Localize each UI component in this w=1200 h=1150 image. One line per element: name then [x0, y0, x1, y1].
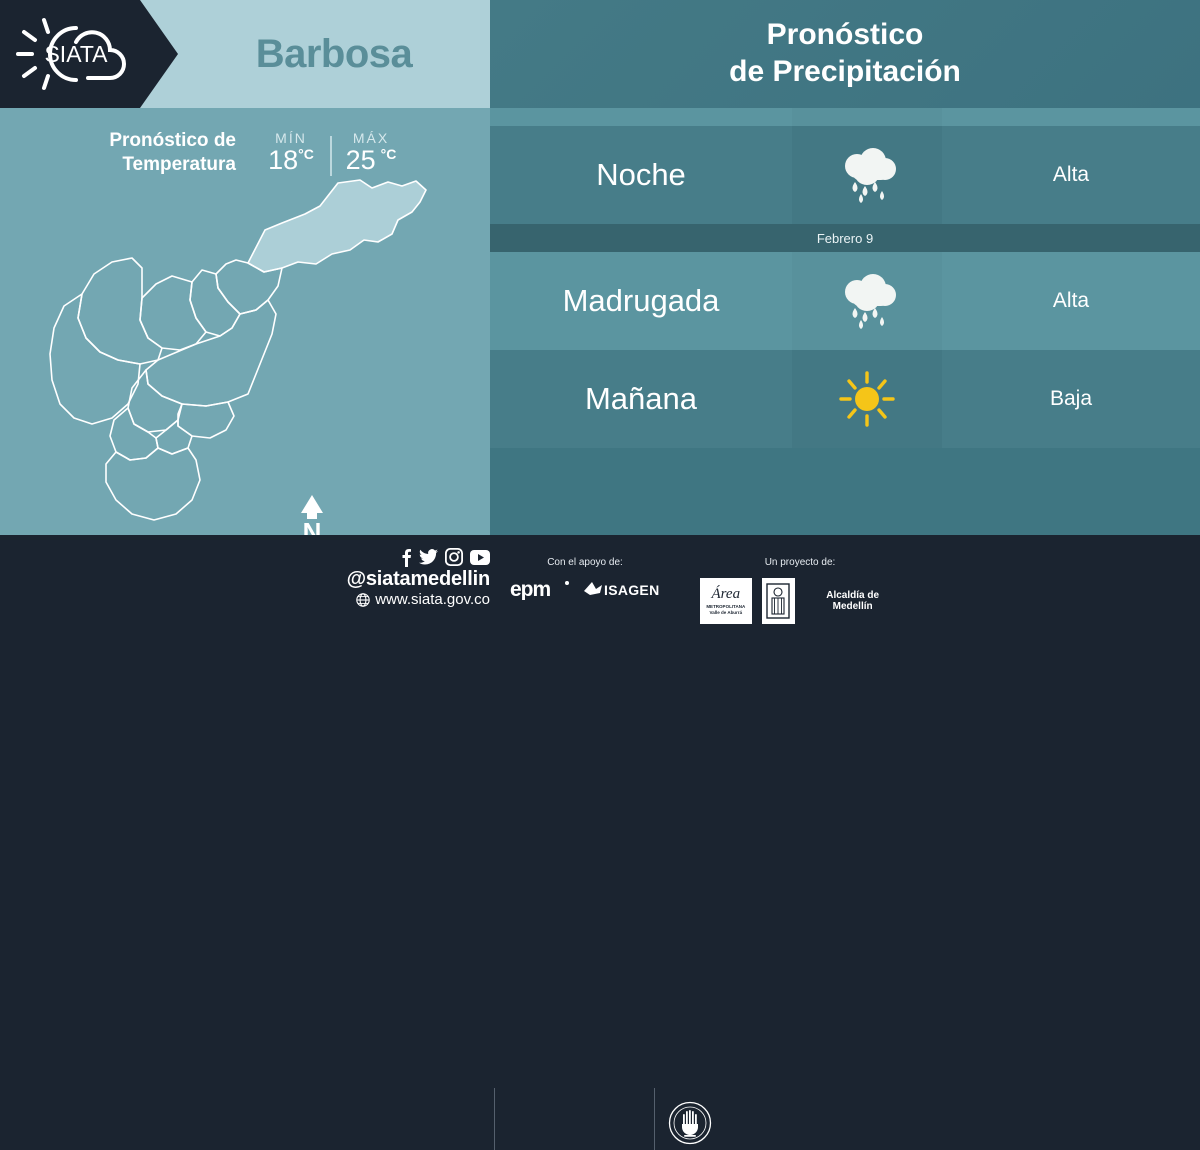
- siata-logo-icon: SIATA: [14, 12, 138, 96]
- website-line[interactable]: www.siata.gov.co: [310, 591, 490, 608]
- map-region-caldas: [106, 448, 200, 520]
- footer-divider-1: [494, 1088, 495, 1150]
- forecast-period-cell: Madrugada: [490, 252, 792, 350]
- svg-text:ISAGEN: ISAGEN: [604, 582, 659, 598]
- university-seal-icon: [668, 1101, 712, 1145]
- forecast-period-label: Noche: [596, 157, 686, 193]
- website-url: www.siata.gov.co: [375, 591, 490, 608]
- city-header: SIATA Barbosa: [0, 0, 490, 108]
- forecast-icon-cell: [792, 350, 942, 448]
- forecast-icon-cell: [792, 252, 942, 350]
- project-block: Un proyecto de: Área METROPOLITANA Valle…: [700, 557, 900, 624]
- footer-divider-2: [654, 1088, 655, 1150]
- svg-text:epm: epm: [510, 578, 551, 600]
- support-logos: epm ISAGEN: [505, 578, 665, 600]
- forecast-period-cell: Noche: [490, 126, 792, 224]
- max-label: MÁX: [332, 130, 410, 146]
- area-script-text: Área: [711, 587, 740, 602]
- instagram-icon[interactable]: [445, 548, 463, 566]
- map-svg: [20, 168, 470, 528]
- project-logos: Área METROPOLITANA Valle de Aburrá: [700, 578, 900, 624]
- forecast-row: Madrugada: [490, 252, 1200, 350]
- alcaldia-label: Alcaldía de Medellín: [805, 590, 900, 612]
- infographic-canvas: SIATA Barbosa Pronóstico de Temperatura …: [0, 0, 1200, 630]
- social-handle[interactable]: @siatamedellin: [310, 568, 490, 591]
- forecast-level-cell: Alta: [942, 252, 1200, 350]
- forecast-period-label: Mañana: [585, 381, 697, 417]
- precipitation-panel: Pronóstico de Precipitación Febrero 8 Ta…: [490, 0, 1200, 535]
- precipitation-title-line1: Pronóstico: [767, 17, 924, 54]
- area-metropolitana-logo: Área METROPOLITANA Valle de Aburrá: [700, 578, 752, 624]
- area-subtitle: METROPOLITANA Valle de Aburrá: [706, 604, 745, 614]
- left-panel: SIATA Barbosa Pronóstico de Temperatura …: [0, 0, 490, 535]
- map-region-barbosa: [248, 180, 426, 272]
- globe-icon: [356, 593, 370, 607]
- epm-logo: epm: [510, 578, 572, 600]
- map-region-northwest: [78, 258, 162, 364]
- precipitation-title-line2: de Precipitación: [729, 54, 961, 91]
- social-icons: [310, 547, 490, 567]
- rain-cloud-icon: [835, 146, 899, 204]
- aburra-valley-map: N: [20, 168, 470, 528]
- footer: @siatamedellin www.siata.gov.co Con el a…: [0, 535, 1200, 630]
- forecast-level-label: Baja: [1050, 387, 1092, 411]
- sun-icon: [835, 370, 899, 428]
- temperature-title-line1: Pronóstico de: [109, 130, 236, 151]
- map-region-medellin: [146, 300, 276, 406]
- siata-logo-text: SIATA: [44, 41, 108, 67]
- alcaldia-crest-logo: [762, 578, 796, 624]
- page-title: Barbosa: [178, 0, 490, 108]
- rain-cloud-icon: [835, 272, 899, 330]
- forecast-row: Mañana Ba: [490, 350, 1200, 448]
- facebook-icon[interactable]: [401, 548, 412, 567]
- support-caption: Con el apoyo de:: [505, 557, 665, 568]
- isagen-logo: ISAGEN: [582, 579, 660, 599]
- forecast-row: Noche: [490, 126, 1200, 224]
- social-block: @siatamedellin www.siata.gov.co: [310, 547, 490, 608]
- siata-logo-banner: SIATA: [0, 0, 178, 108]
- forecast-level-cell: Baja: [942, 350, 1200, 448]
- alcaldia-crest-icon: [765, 582, 791, 620]
- min-label: MÍN: [252, 130, 330, 146]
- forecast-level-cell: Alta: [942, 126, 1200, 224]
- project-caption: Un proyecto de:: [700, 557, 900, 568]
- area-line2: Valle de Aburrá: [709, 610, 742, 615]
- forecast-period-label: Madrugada: [563, 283, 720, 319]
- twitter-icon[interactable]: [419, 549, 438, 565]
- precipitation-header: Pronóstico de Precipitación: [490, 0, 1200, 108]
- map-region-west-strip: [50, 294, 140, 424]
- youtube-icon[interactable]: [470, 550, 490, 565]
- support-block: Con el apoyo de: epm ISAGEN: [505, 557, 665, 600]
- date-band-day2: Febrero 9: [490, 224, 1200, 252]
- forecast-icon-cell: [792, 126, 942, 224]
- forecast-period-cell: Mañana: [490, 350, 792, 448]
- max-unit: °C: [381, 146, 397, 162]
- forecast-level-label: Alta: [1053, 163, 1089, 187]
- forecast-level-label: Alta: [1053, 289, 1089, 313]
- temperature-panel: Pronóstico de Temperatura MÍN 18°C MÁX: [0, 108, 490, 535]
- min-unit: °C: [298, 146, 314, 162]
